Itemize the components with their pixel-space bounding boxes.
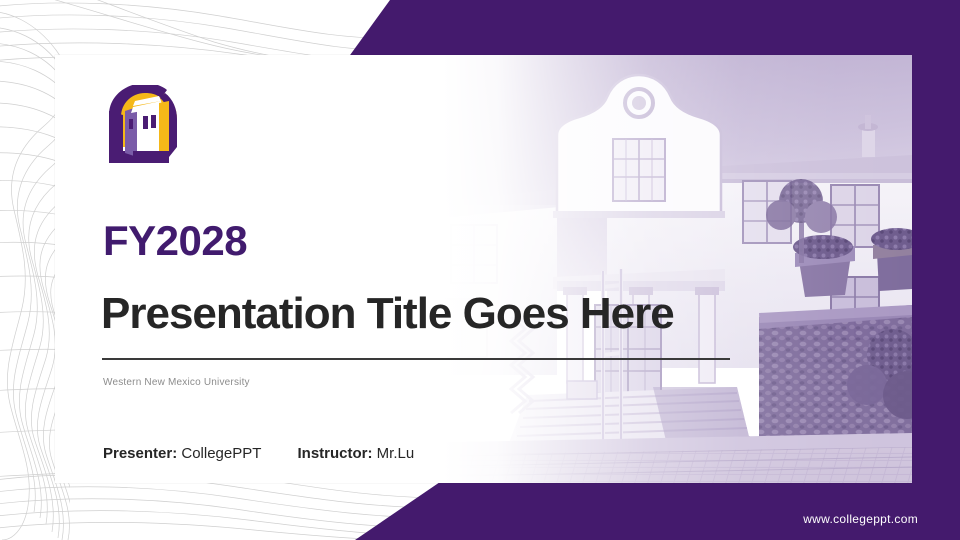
campus-building-photo bbox=[407, 55, 912, 483]
presentation-slide: FY2028 Presentation Title Goes Here West… bbox=[0, 0, 960, 540]
purple-band-right bbox=[912, 62, 960, 482]
presenter-value: CollegePPT bbox=[181, 445, 261, 462]
page-title: Presentation Title Goes Here bbox=[101, 292, 674, 336]
credits-line: Presenter: CollegePPT Instructor: Mr.Lu bbox=[103, 445, 414, 462]
title-divider bbox=[102, 358, 730, 360]
purple-band-bottom bbox=[0, 482, 960, 540]
institution-name: Western New Mexico University bbox=[103, 377, 250, 388]
presenter-label: Presenter: bbox=[103, 445, 177, 462]
fiscal-year-heading: FY2028 bbox=[103, 220, 247, 262]
university-logo bbox=[103, 85, 181, 165]
purple-band-top bbox=[0, 0, 960, 62]
footer-website-url[interactable]: www.collegeppt.com bbox=[803, 512, 918, 526]
instructor-label: Instructor: bbox=[298, 445, 373, 462]
content-card: FY2028 Presentation Title Goes Here West… bbox=[55, 55, 912, 483]
instructor-value: Mr.Lu bbox=[377, 445, 415, 462]
